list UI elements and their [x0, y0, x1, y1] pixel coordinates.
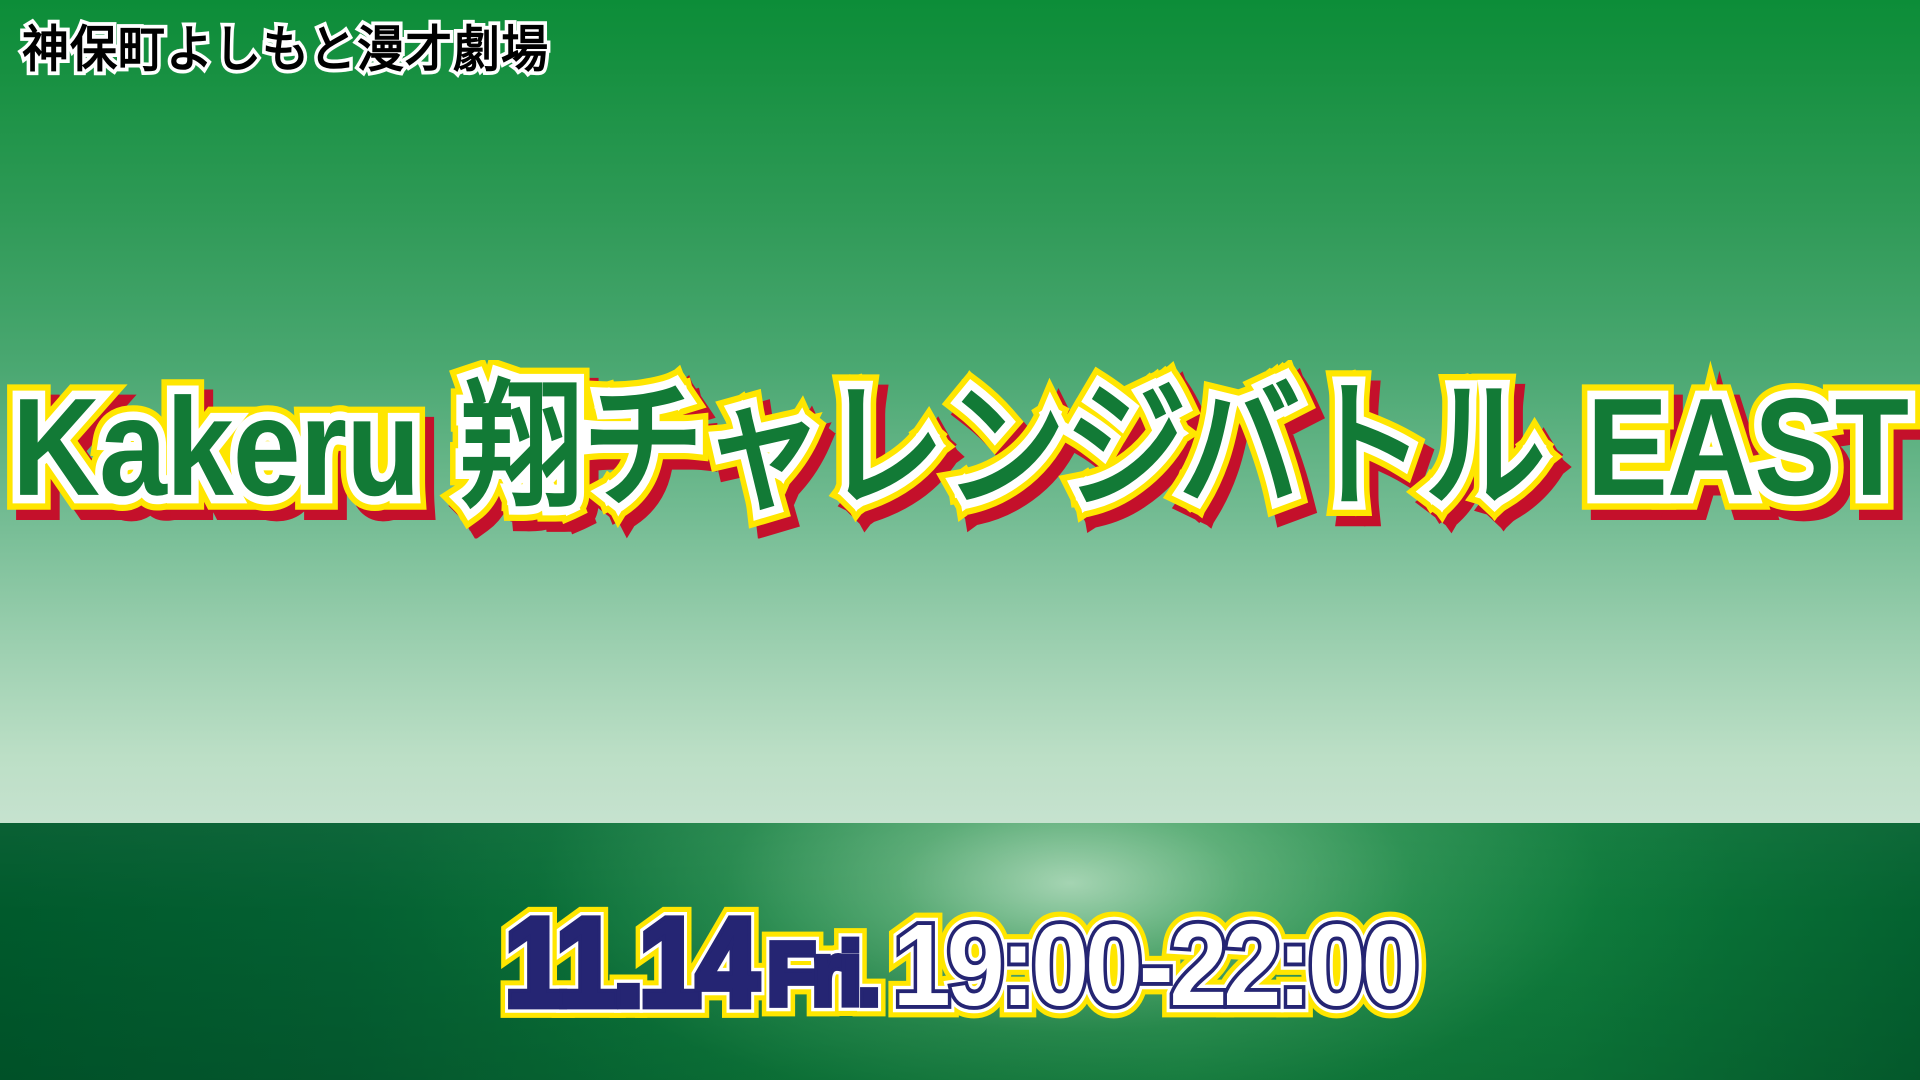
schedule-container: 11.14Fri.19:00-22:00 11.14Fri.19:00-22:0… — [0, 898, 1920, 1028]
venue-logo: 神保町よしもと漫才劇場 — [22, 25, 549, 75]
event-day-of-week: Fri. — [754, 930, 877, 1017]
schedule-line: 11.14Fri.19:00-22:00 11.14Fri.19:00-22:0… — [504, 907, 1415, 1019]
title-fill-layer: Kakeru 翔チャレンジバトル EAST — [12, 377, 1908, 516]
schedule-fill-layer: 11.14Fri.19:00-22:00 — [504, 907, 1415, 1019]
main-title-container: Kakeru 翔チャレンジバトル EAST Kakeru 翔チャレンジバトル E… — [0, 382, 1920, 512]
main-title: Kakeru 翔チャレンジバトル EAST Kakeru 翔チャレンジバトル E… — [12, 377, 1908, 516]
event-poster: 神保町よしもと漫才劇場 Kakeru 翔チャレンジバトル EAST Kakeru… — [0, 0, 1920, 1080]
event-time: 19:00-22:00 — [877, 908, 1416, 1024]
event-date: 11.14 — [504, 900, 753, 1025]
